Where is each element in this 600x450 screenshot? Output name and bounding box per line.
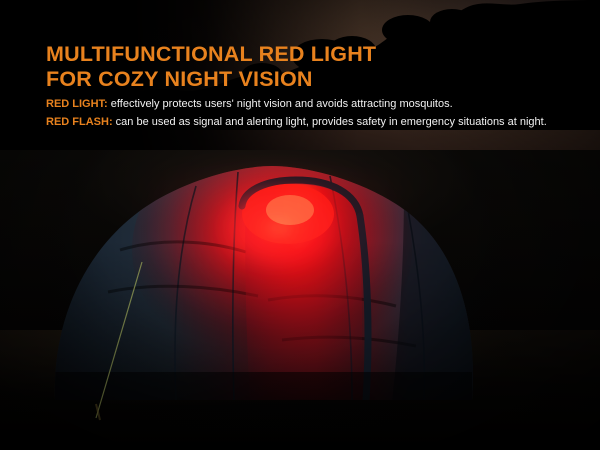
tent-right-shadow xyxy=(392,190,474,402)
feature-text-red-light: effectively protects users' night vision… xyxy=(108,98,453,110)
tent-base-shadow xyxy=(55,372,472,402)
headline: MULTIFUNCTIONAL RED LIGHT FOR COZY NIGHT… xyxy=(46,42,376,92)
promo-image: MULTIFUNCTIONAL RED LIGHT FOR COZY NIGHT… xyxy=(0,0,600,450)
feature-line-red-flash: RED FLASH: can be used as signal and ale… xyxy=(46,116,547,128)
feature-line-red-light: RED LIGHT: effectively protects users' n… xyxy=(46,98,453,110)
feature-label-red-light: RED LIGHT: xyxy=(46,98,108,110)
feature-label-red-flash: RED FLASH: xyxy=(46,116,113,128)
feature-text-red-flash: can be used as signal and alerting light… xyxy=(113,116,547,128)
red-light-core xyxy=(266,195,314,225)
tent-dome xyxy=(40,130,500,410)
